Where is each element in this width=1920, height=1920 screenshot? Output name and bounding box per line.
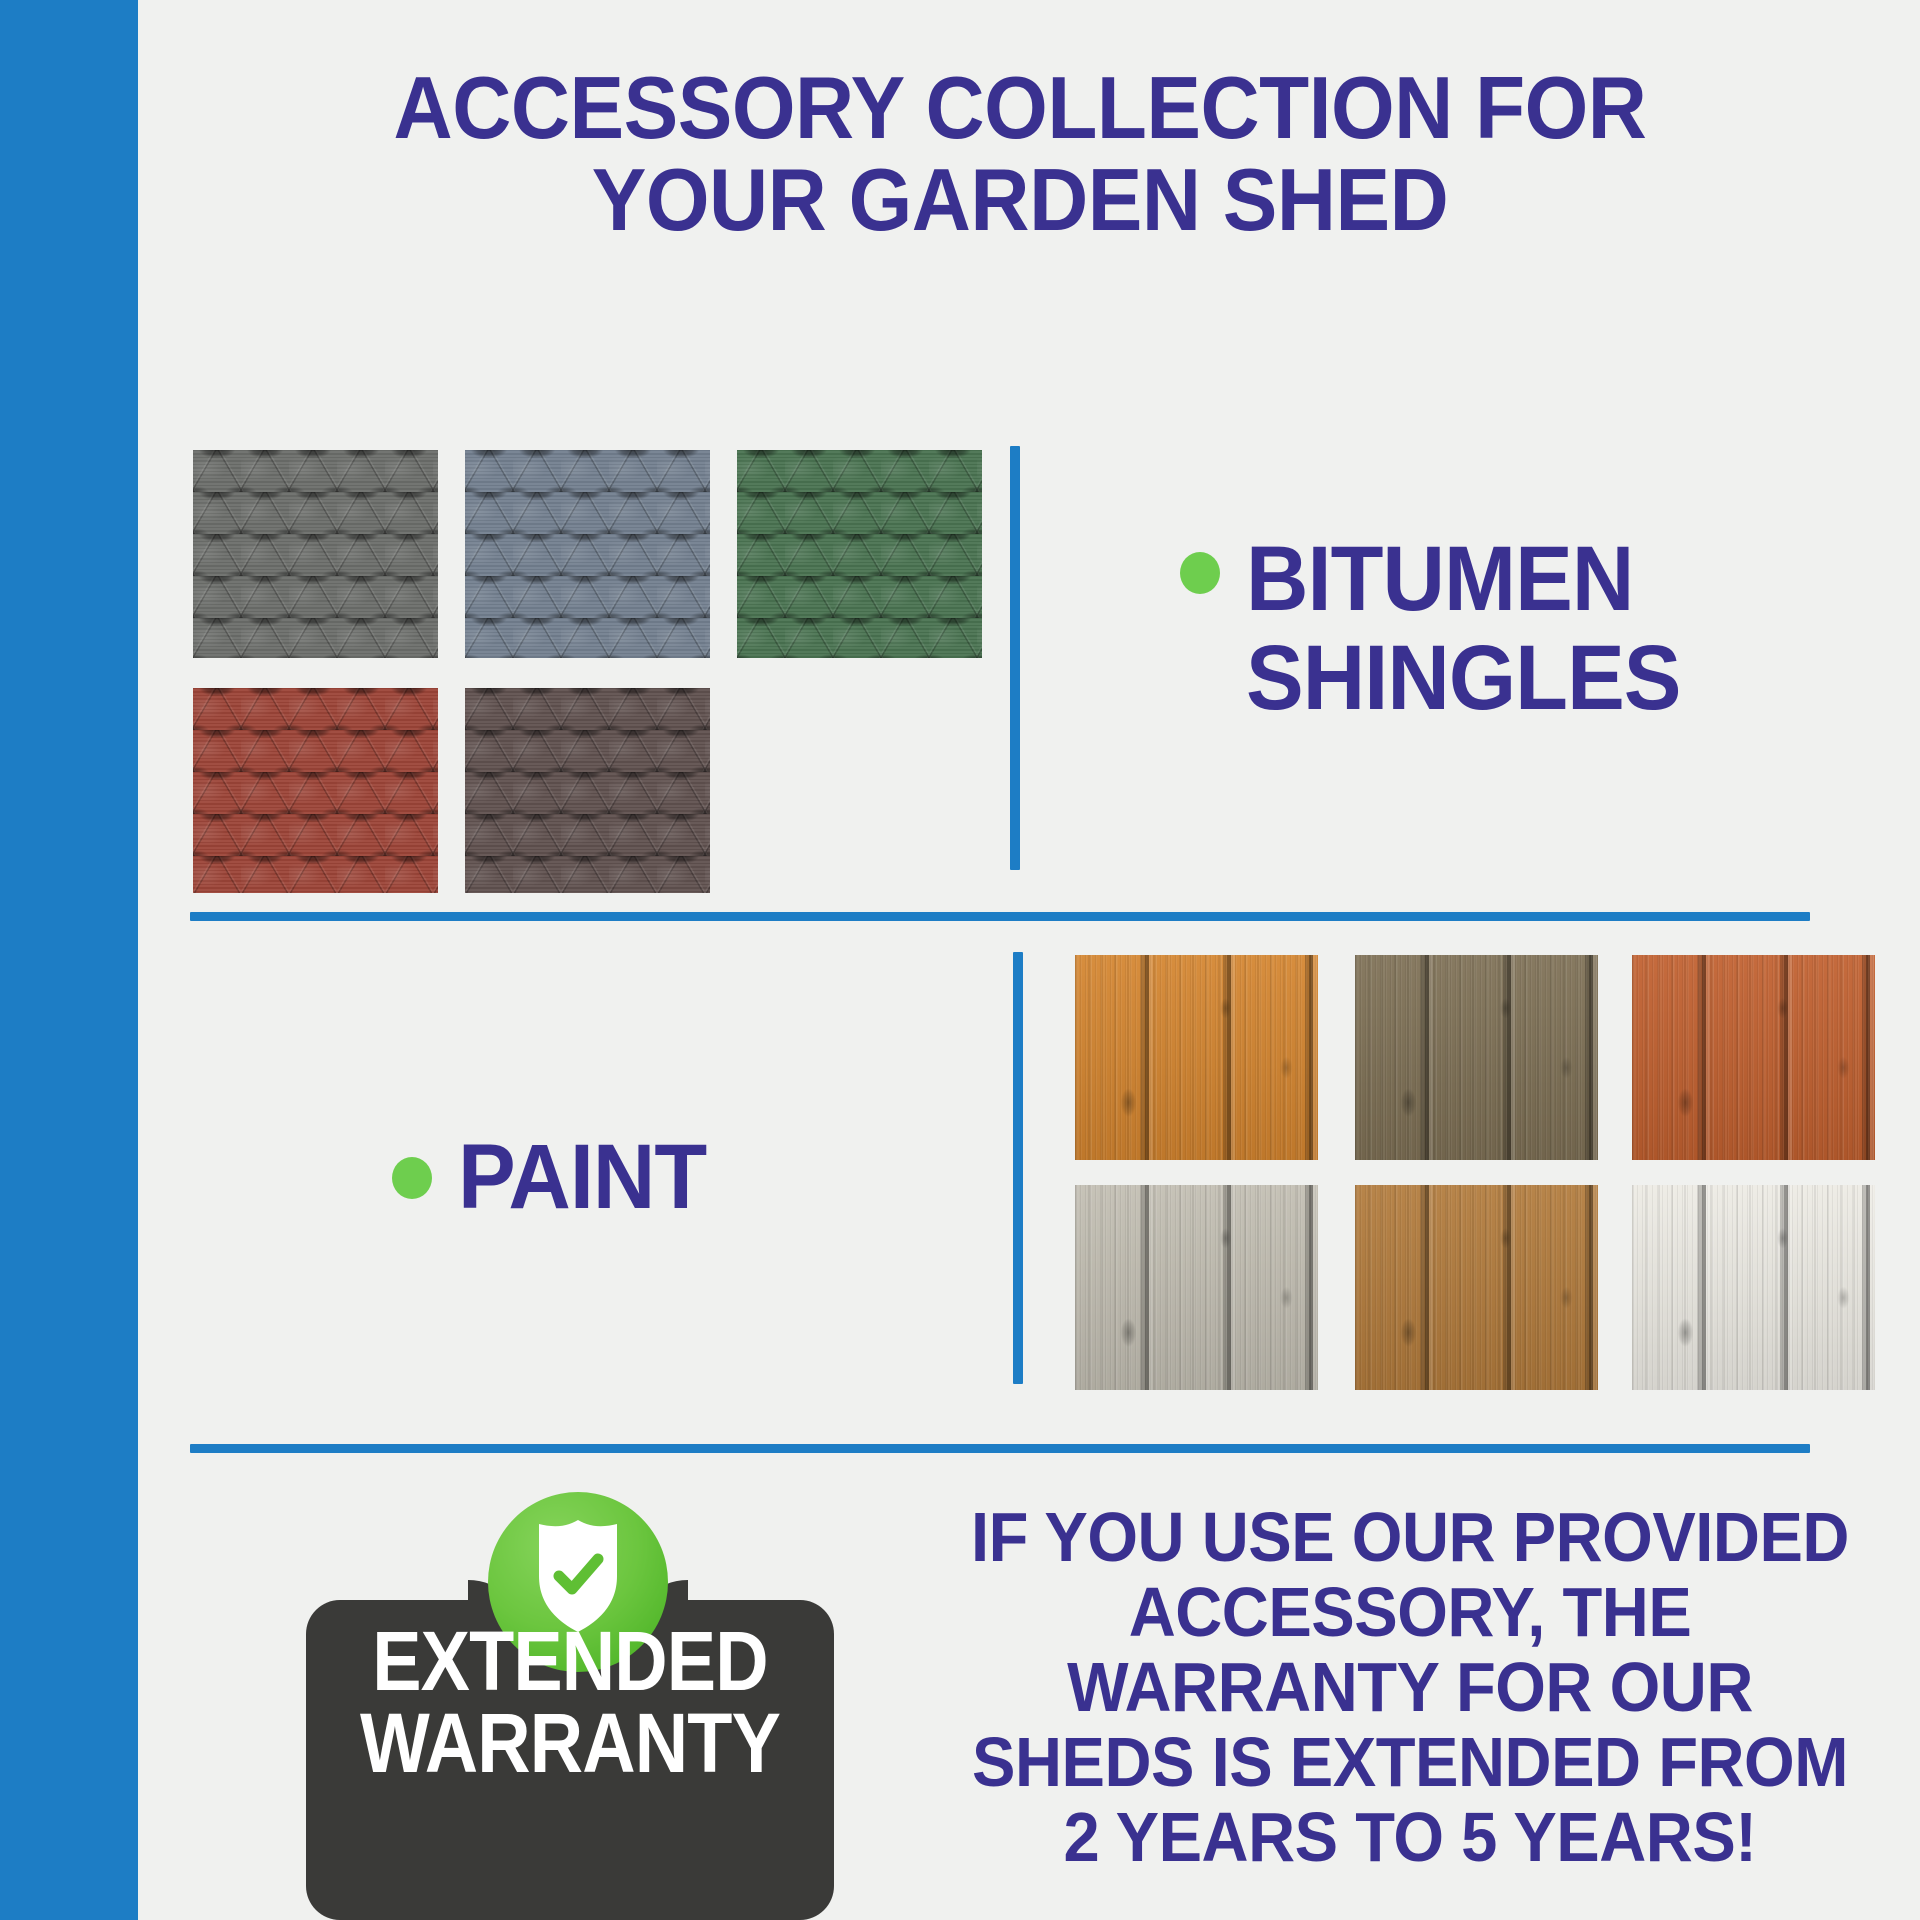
warranty-copy: IF YOU USE OUR PROVIDED ACCESSORY, THE W… (940, 1500, 1879, 1874)
warranty-copy-line-3: WARRANTY FOR OUR (940, 1650, 1879, 1725)
swatch-shingle-red[interactable] (193, 688, 438, 893)
swatch-paint-grey-brown[interactable] (1355, 955, 1598, 1160)
warranty-copy-line-1: IF YOU USE OUR PROVIDED (940, 1500, 1879, 1575)
warranty-copy-line-2: ACCESSORY, THE (940, 1575, 1879, 1650)
bitumen-shingles-label-line-1: BITUMEN (1246, 530, 1681, 629)
bitumen-shingles-label: BITUMEN SHINGLES (1246, 530, 1681, 729)
page-title-line-2: YOUR GARDEN SHED (230, 154, 1811, 246)
divider-bottom (190, 1444, 1810, 1453)
badge-text: EXTENDED WARRANTY (338, 1620, 803, 1785)
green-dot-icon (392, 1157, 432, 1199)
swatch-shingle-green[interactable] (737, 450, 982, 658)
swatch-paint-red-cedar[interactable] (1632, 955, 1875, 1160)
green-dot-icon (1180, 552, 1220, 594)
swatch-paint-golden-oak[interactable] (1355, 1185, 1598, 1390)
divider-top (190, 912, 1810, 921)
swatch-shingle-brown[interactable] (465, 688, 710, 893)
bitumen-shingles-label-line-2: SHINGLES (1246, 629, 1681, 728)
page-title: ACCESSORY COLLECTION FOR YOUR GARDEN SHE… (230, 62, 1811, 245)
swatch-shingle-grey[interactable] (193, 450, 438, 658)
badge-text-line-1: EXTENDED (338, 1620, 803, 1702)
warranty-copy-line-5: 2 YEARS TO 5 YEARS! (940, 1800, 1879, 1875)
warranty-copy-line-4: SHEDS IS EXTENDED FROM (940, 1725, 1879, 1800)
swatch-paint-orange[interactable] (1075, 955, 1318, 1160)
paint-label: PAINT (458, 1128, 706, 1227)
swatch-paint-light-grey[interactable] (1075, 1185, 1318, 1390)
page-title-line-1: ACCESSORY COLLECTION FOR (230, 62, 1811, 154)
swatch-paint-white[interactable] (1632, 1185, 1875, 1390)
extended-warranty-badge: EXTENDED WARRANTY (298, 1492, 848, 1920)
paint-vertical-divider (1013, 952, 1023, 1384)
infographic-canvas: ACCESSORY COLLECTION FOR YOUR GARDEN SHE… (0, 0, 1920, 1920)
left-accent-bar (0, 0, 138, 1920)
badge-text-line-2: WARRANTY (338, 1702, 803, 1784)
shingles-vertical-divider (1010, 446, 1020, 870)
section-label-paint: PAINT (392, 1128, 952, 1227)
section-label-bitumen-shingles: BITUMEN SHINGLES (1180, 530, 1880, 729)
swatch-shingle-blue-grey[interactable] (465, 450, 710, 658)
